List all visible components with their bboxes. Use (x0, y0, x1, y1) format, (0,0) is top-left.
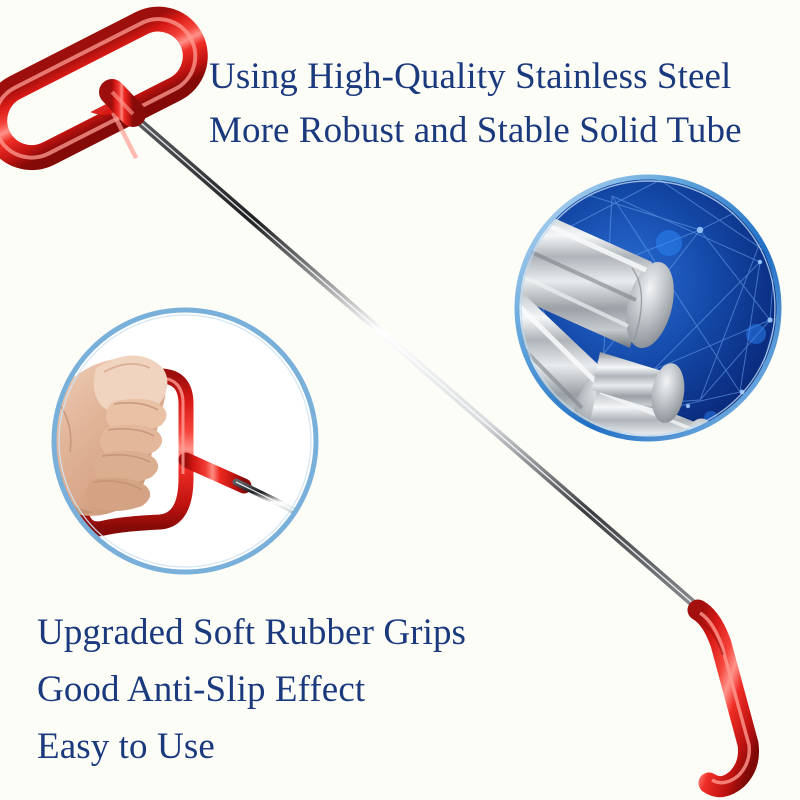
benefit-line-1: Upgraded Soft Rubber Grips (37, 604, 466, 661)
product-feature-image: Using High-Quality Stainless Steel More … (0, 0, 800, 800)
tool-hook-tip (698, 610, 749, 787)
headline-line-2: More Robust and Stable Solid Tube (209, 104, 800, 158)
benefits-block: Upgraded Soft Rubber Grips Good Anti-Sli… (37, 604, 466, 775)
hand-grip-inset (30, 308, 330, 574)
benefit-line-3: Easy to Use (37, 718, 466, 775)
inset-hand (30, 356, 167, 516)
steel-rods-inset (505, 176, 790, 508)
headline-line-1: Using High-Quality Stainless Steel (209, 50, 800, 104)
handle-shaft-junction (112, 92, 133, 114)
headline-block: Using High-Quality Stainless Steel More … (209, 50, 800, 158)
benefit-line-2: Good Anti-Slip Effect (37, 661, 466, 718)
